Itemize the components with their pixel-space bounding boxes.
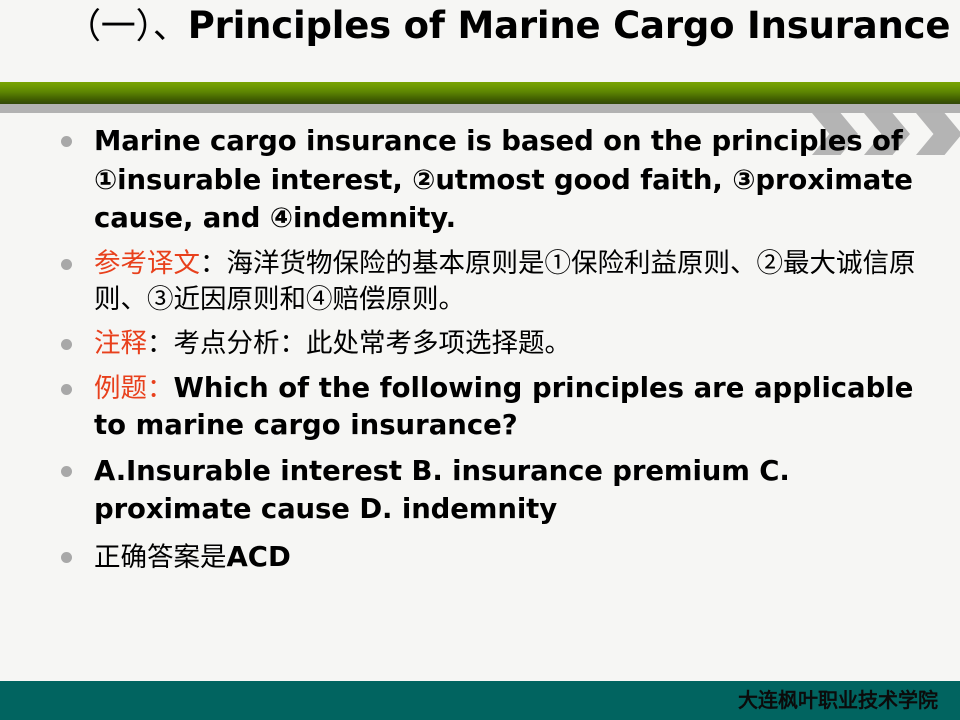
list-item-body: ：海洋货物保险的基本原则是①保险利益原则、②最大诚信原则、③近因原则和④赔偿原则… [94, 248, 916, 315]
list-item: A.Insurable interest B. insurance premiu… [0, 452, 960, 529]
list-item-text: 注释：考点分析：此处常考多项选择题。 [94, 326, 571, 362]
list-item: 例题：Which of the following principles are… [0, 370, 960, 444]
list-item-body: ：考点分析：此处常考多项选择题。 [147, 328, 571, 359]
list-item: 注释：考点分析：此处常考多项选择题。 [0, 326, 960, 362]
list-item-label: 注释 [94, 328, 147, 359]
title-area: （一）、Principles of Marine Cargo Insurance [0, 0, 960, 112]
bullet-dot-icon [61, 259, 72, 270]
title-green-bar [0, 82, 960, 104]
list-item-text: A.Insurable interest B. insurance premiu… [94, 452, 948, 529]
bullet-dot-icon [61, 466, 72, 477]
bullet-dot-icon [61, 384, 72, 395]
list-item: 正确答案是ACD [0, 539, 960, 576]
list-item-label: 例题 [94, 373, 147, 404]
list-item-body: Which of the following principles are ap… [94, 372, 913, 441]
bullet-dot-icon [61, 339, 72, 350]
list-item: 参考译文：海洋货物保险的基本原则是①保险利益原则、②最大诚信原则、③近因原则和④… [0, 246, 960, 318]
list-item-text: Marine cargo insurance is based on the p… [94, 122, 948, 238]
list-item-label: 正确答案是 [94, 542, 227, 573]
list-item-text: 参考译文：海洋货物保险的基本原则是①保险利益原则、②最大诚信原则、③近因原则和④… [94, 246, 948, 318]
title-gray-rule [0, 104, 960, 113]
list-item-label: 参考译文 [94, 248, 200, 279]
title-en-text: Principles of Marine Cargo Insurance [188, 4, 951, 47]
footer-bar: 大连枫叶职业技术学院 [0, 681, 960, 720]
bullet-dot-icon [61, 552, 72, 563]
footer-institution-name: 大连枫叶职业技术学院 [738, 687, 938, 713]
title-cn-prefix: （一）、 [66, 7, 188, 47]
list-item-separator: ： [147, 373, 174, 404]
list-item: Marine cargo insurance is based on the p… [0, 122, 960, 238]
list-item-text: 例题：Which of the following principles are… [94, 370, 948, 444]
list-item-text: 正确答案是ACD [94, 539, 291, 576]
slide-canvas: （一）、Principles of Marine Cargo Insurance… [0, 0, 960, 720]
page-title: （一）、Principles of Marine Cargo Insurance [66, 2, 946, 51]
list-item-body: ACD [227, 541, 291, 573]
bullet-dot-icon [61, 136, 72, 147]
bullet-list: Marine cargo insurance is based on the p… [0, 118, 960, 678]
